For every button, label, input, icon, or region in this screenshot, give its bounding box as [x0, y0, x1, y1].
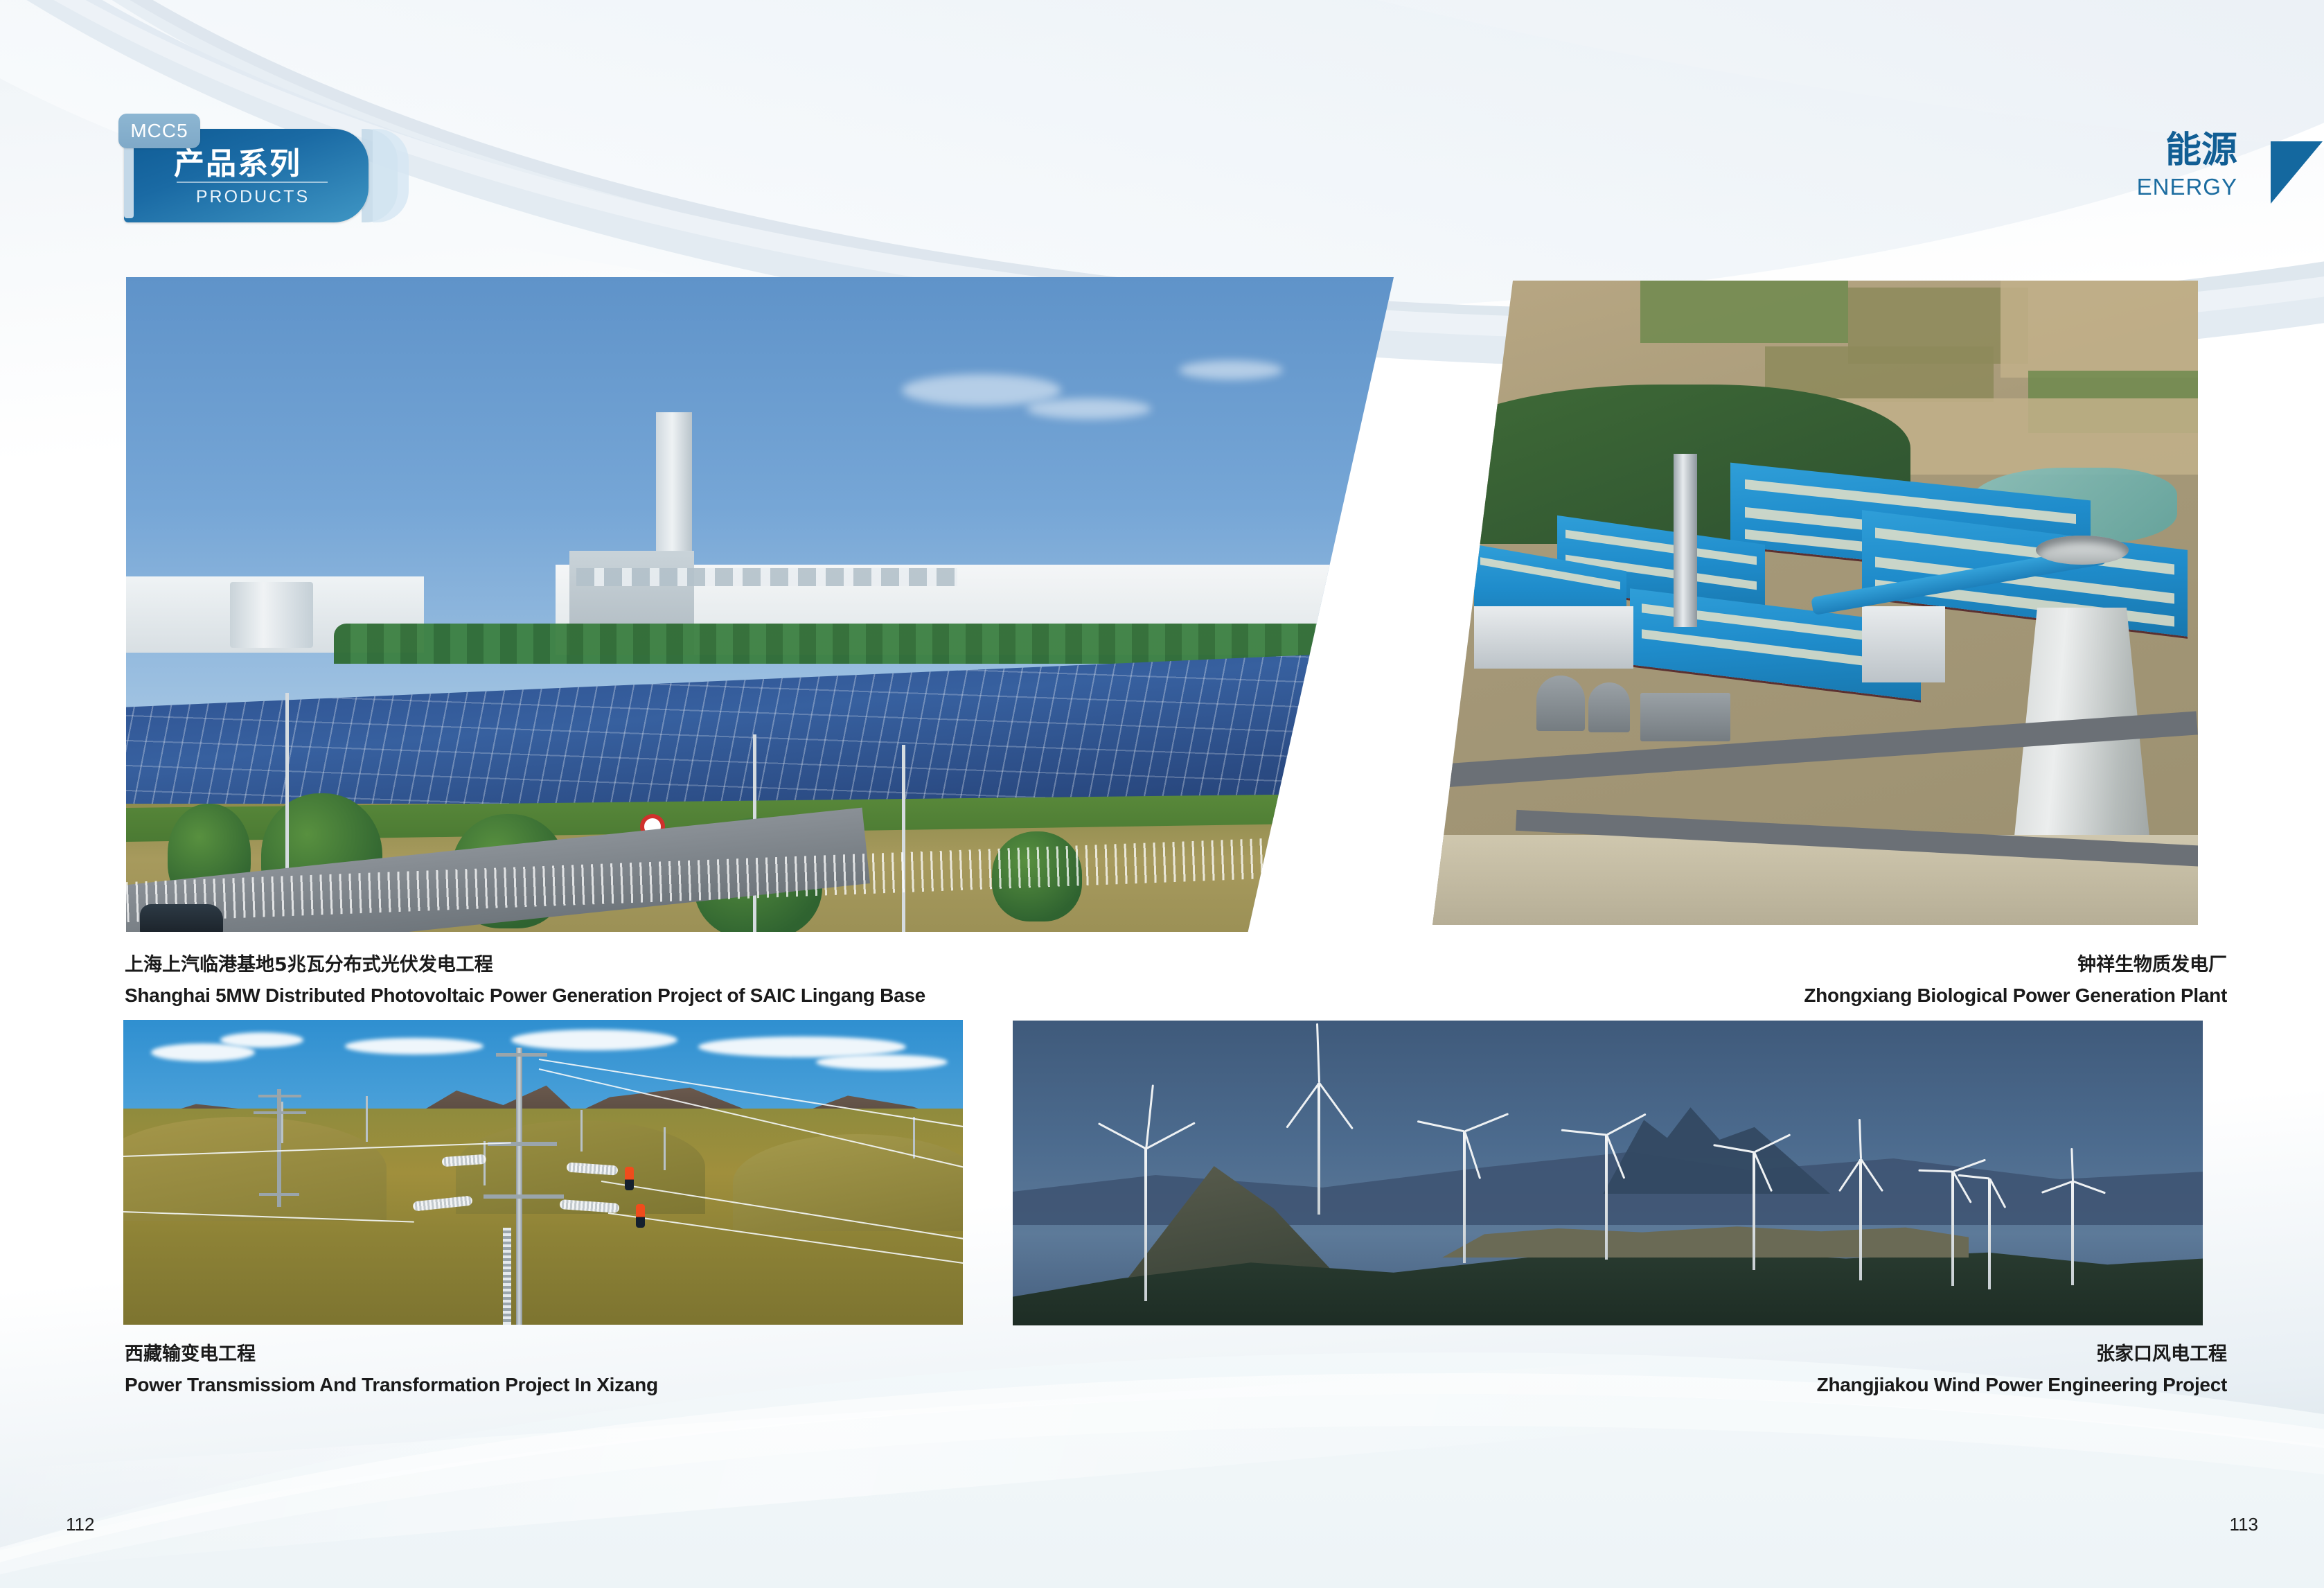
bio-equipment [1640, 693, 1730, 741]
caption-cn: 上海上汽临港基地5兆瓦分布式光伏发电工程 [125, 953, 925, 977]
mcc5-logo-badge: MCC5 [118, 114, 200, 148]
bio-field-3 [2001, 281, 2198, 378]
pv-storage-tank [230, 582, 313, 648]
grid-tower-left-mast [277, 1089, 281, 1207]
grid-far-tower-4 [580, 1110, 583, 1152]
triangle-icon [2271, 141, 2323, 204]
grid-far-tower-1 [281, 1102, 283, 1143]
caption-cn: 西藏输变电工程 [125, 1342, 658, 1366]
wind-turbine-mast-6 [1859, 1159, 1862, 1280]
brochure-page: 产品系列 PRODUCTS MCC5 能源 ENERGY [0, 0, 2324, 1588]
caption-en: Zhongxiang Biological Power Generation P… [1804, 982, 2227, 1009]
section-title-cn: 能源 [2137, 132, 2237, 170]
wind-turbine-mast-4 [1605, 1135, 1608, 1260]
products-title-en: PRODUCTS [177, 187, 329, 207]
section-label-energy: 能源 ENERGY [2137, 132, 2237, 200]
pv-window-band [576, 568, 957, 586]
wind-turbine-mast-5 [1753, 1152, 1755, 1270]
grid-cloud-3 [345, 1038, 484, 1055]
bio-silo-1 [1536, 676, 1585, 731]
caption-biomass: 钟祥生物质发电厂 Zhongxiang Biological Power Gen… [1804, 953, 2227, 1009]
grid-cloud-4 [511, 1030, 677, 1050]
caption-wind: 张家口风电工程 Zhangjiakou Wind Power Engineeri… [1817, 1342, 2227, 1398]
bio-chimney [1674, 454, 1697, 627]
tab-divider [177, 182, 328, 183]
grid-linesman-1 [625, 1167, 634, 1190]
bio-field-1 [1640, 281, 1848, 343]
wind-turbine-mast-8 [1988, 1179, 1991, 1289]
tab-curve-inner [373, 129, 409, 222]
grid-tower-left-base [259, 1193, 299, 1196]
bio-wall-2 [1862, 606, 1945, 682]
page-number-left: 112 [66, 1514, 94, 1535]
grid-cloud-2 [220, 1032, 303, 1048]
wind-turbine-mast-2 [1318, 1083, 1320, 1215]
wind-turbine-mast-7 [1951, 1172, 1954, 1286]
bio-silo-2 [1588, 682, 1630, 732]
pv-cloud-3 [1179, 360, 1283, 380]
grid-hill-3 [733, 1134, 963, 1231]
wind-turbine-mast-9 [2071, 1181, 2074, 1285]
photo-transmission-xizang [123, 1020, 963, 1325]
grid-linesman-2 [636, 1204, 645, 1228]
pv-tree-row [334, 624, 1394, 664]
caption-transmission: 西藏输变电工程 Power Transmissiom And Transform… [125, 1342, 658, 1398]
caption-en: Power Transmissiom And Transformation Pr… [125, 1372, 658, 1398]
grid-main-tower-arm-2 [484, 1194, 564, 1199]
grid-main-tower-mast [516, 1048, 522, 1325]
bio-cooling-tower-rim [2036, 536, 2129, 565]
page-number-right: 113 [2230, 1514, 2258, 1535]
pv-light-pole-3 [902, 745, 905, 932]
grid-main-tower-ladder [503, 1228, 511, 1325]
grid-main-tower-top-arm [496, 1053, 547, 1057]
wind-turbine-mast-1 [1144, 1149, 1147, 1301]
grid-tower-left-arm-1 [258, 1095, 301, 1097]
grid-tower-left-arm-2 [254, 1111, 306, 1114]
photo-biomass-plant [1432, 281, 2198, 925]
caption-cn: 钟祥生物质发电厂 [1804, 953, 2227, 977]
photo-wind-farm [1013, 1021, 2203, 1325]
pv-car [140, 904, 223, 932]
pv-cloud-1 [902, 374, 1061, 406]
grid-far-tower-5 [664, 1127, 666, 1170]
pv-cloud-2 [1027, 398, 1151, 419]
caption-en: Shanghai 5MW Distributed Photovoltaic Po… [125, 982, 925, 1009]
section-title-en: ENERGY [2137, 174, 2237, 200]
grid-cloud-6 [816, 1055, 948, 1070]
caption-photovoltaic: 上海上汽临港基地5兆瓦分布式光伏发电工程 Shanghai 5MW Distri… [125, 953, 925, 1009]
caption-cn: 张家口风电工程 [1817, 1342, 2227, 1366]
bio-wall-1 [1474, 606, 1633, 669]
grid-far-tower-6 [913, 1117, 915, 1158]
grid-far-tower-2 [366, 1096, 368, 1142]
products-tab: 产品系列 PRODUCTS MCC5 [124, 129, 411, 222]
caption-en: Zhangjiakou Wind Power Engineering Proje… [1817, 1372, 2227, 1398]
photo-photovoltaic [126, 277, 1394, 932]
wind-turbine-mast-3 [1463, 1131, 1466, 1263]
